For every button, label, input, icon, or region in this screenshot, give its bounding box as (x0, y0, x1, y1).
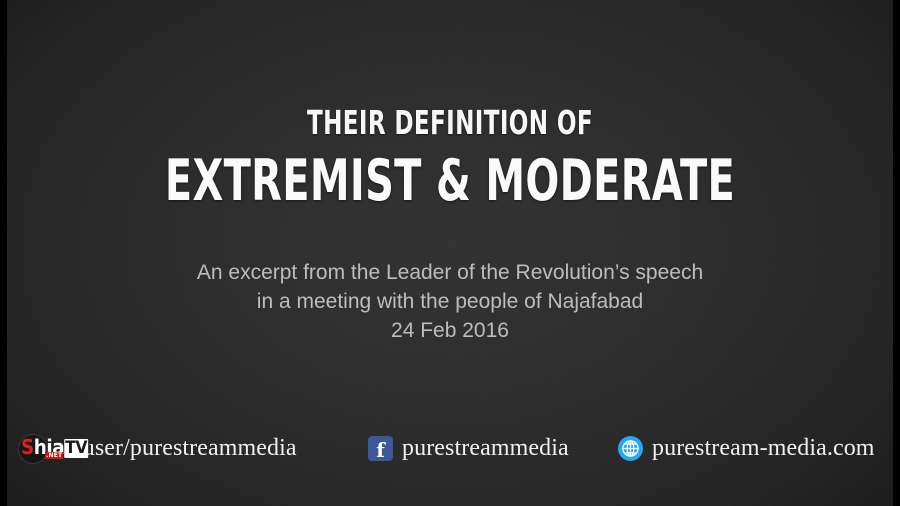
facebook-f-glyph: f (368, 436, 393, 461)
shiatv-logo-s: S (21, 435, 34, 459)
footer-item-shiatv[interactable]: ShiaTV .NET /user/purestreammedia (18, 428, 297, 468)
title-line-2: EXTREMIST & MODERATE (135, 150, 765, 212)
website-url-label: purestream-media.com (652, 434, 875, 462)
title-block: THEIR DEFINITION OF EXTREMIST & MODERATE (0, 104, 900, 212)
title-line-1: THEIR DEFINITION OF (135, 104, 765, 142)
shiatv-logo-tv: TV (64, 439, 88, 458)
facebook-page-label: purestreammedia (402, 434, 569, 462)
globe-icon (618, 436, 643, 461)
footer-item-website[interactable]: purestream-media.com (618, 428, 875, 468)
shiatv-logo-net: .NET (45, 452, 63, 459)
subtitle-line-1: An excerpt from the Leader of the Revolu… (0, 258, 900, 287)
subtitle-block: An excerpt from the Leader of the Revolu… (0, 258, 900, 345)
footer-social-bar: ShiaTV .NET /user/purestreammedia f pure… (0, 428, 900, 468)
presentation-slide: THEIR DEFINITION OF EXTREMIST & MODERATE… (0, 0, 900, 506)
shiatv-channel-label: /user/purestreammedia (76, 434, 297, 462)
shiatv-logo-icon: ShiaTV .NET (18, 433, 76, 463)
subtitle-line-2: in a meeting with the people of Najafaba… (0, 287, 900, 316)
subtitle-line-3-date: 24 Feb 2016 (0, 316, 900, 345)
footer-item-facebook[interactable]: f purestreammedia (368, 428, 569, 468)
facebook-icon: f (368, 436, 393, 461)
